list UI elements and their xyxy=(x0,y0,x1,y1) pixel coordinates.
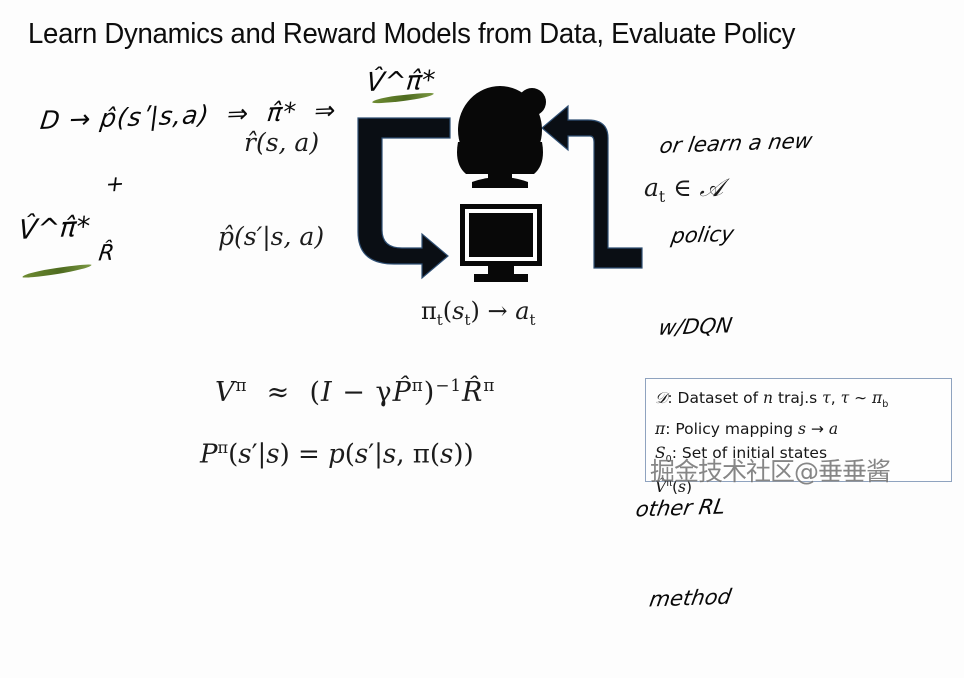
action-set-label: at ∈ 𝒜 xyxy=(644,173,723,206)
handwriting-note-line-1: or learn a new xyxy=(657,126,814,162)
handwriting-reward-hat: R̂ xyxy=(91,242,122,267)
handwriting-note-line-2: policy xyxy=(669,217,800,252)
handwriting-note-line-6: method xyxy=(647,582,742,616)
right-loop-arrow xyxy=(542,106,642,268)
person-head-icon xyxy=(457,86,546,188)
legend-line-value-function: V̂π(s) xyxy=(655,472,951,499)
dynamics-model-label: p̂(s′|s, a) xyxy=(218,222,324,251)
reward-model-label: r̂(s, a) xyxy=(244,128,319,157)
legend-line-initial-states: S0: Set of initial states xyxy=(655,441,951,472)
value-approximation-equation: Vπ ≈ (I − γP̂π)−1R̂π xyxy=(215,375,495,408)
legend-line-policy: π: Policy mapping s → a xyxy=(655,417,951,441)
legend-line-dataset: 𝒟: Dataset of n traj.s τ, τ ∼ πb xyxy=(655,386,951,417)
green-highlight-stroke-left xyxy=(22,263,92,280)
page-title: Learn Dynamics and Reward Models from Da… xyxy=(28,18,795,51)
transition-definition-equation: Pπ(s′|s) = p(s′|s, π(s)) xyxy=(200,438,474,470)
computer-monitor-icon xyxy=(460,204,542,282)
notation-legend-box: 𝒟: Dataset of n traj.s τ, τ ∼ πb π: Poli… xyxy=(645,378,952,482)
handwriting-plus-sign: + xyxy=(99,173,130,198)
handwriting-note-line-3: w/DQN xyxy=(657,308,786,343)
agent-environment-loop-diagram xyxy=(350,80,650,310)
slide-canvas: Learn Dynamics and Reward Models from Da… xyxy=(0,0,964,500)
handwriting-value-left: V̂^π̂* xyxy=(17,211,91,246)
left-loop-arrow xyxy=(358,118,450,278)
